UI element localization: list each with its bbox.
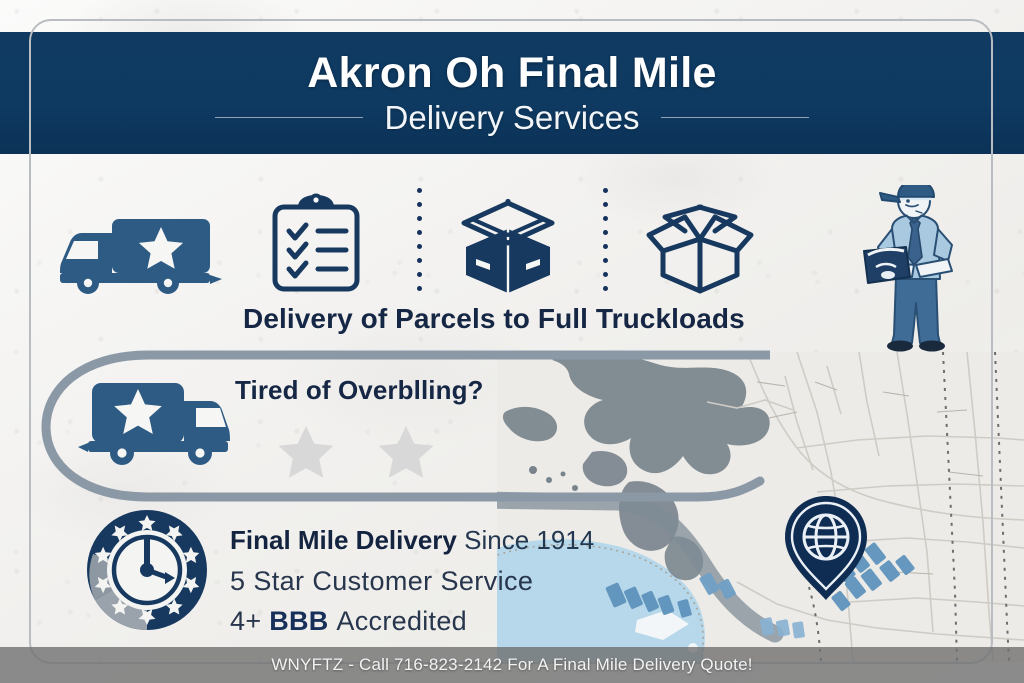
closed-box-icon xyxy=(458,199,558,300)
header-banner: Akron Oh Final Mile Delivery Services xyxy=(0,32,1024,154)
headline-tired: Tired of Overblling? xyxy=(235,375,484,406)
stat-bold-final-mile: Final Mile Delivery xyxy=(230,525,457,555)
rule-right xyxy=(661,117,809,118)
gray-star-rating xyxy=(278,425,434,479)
page-title: Akron Oh Final Mile xyxy=(307,52,716,95)
vertical-dotted-separator xyxy=(415,188,423,291)
headline-parcels: Delivery of Parcels to Full Truckloads xyxy=(243,303,745,335)
rule-left xyxy=(215,117,363,118)
subtitle-row: Delivery Services xyxy=(82,101,942,134)
stat-bbb-bold: BBB xyxy=(269,606,328,636)
truck-with-star-right-icon xyxy=(78,375,230,472)
footer-contact-text: WNYFTZ - Call 716-823-2142 For A Final M… xyxy=(271,655,752,675)
stats-block: Final Mile Delivery Since 1914 5 Star Cu… xyxy=(230,527,594,635)
stat-bbb-prefix: 4+ xyxy=(230,606,261,636)
open-box-icon xyxy=(645,199,755,300)
vertical-dotted-separator xyxy=(601,188,609,291)
gray-star-icon xyxy=(378,425,434,479)
stat-line-since: Final Mile Delivery Since 1914 xyxy=(230,527,594,553)
stat-line-bbb: 4+ BBB Accredited xyxy=(230,608,594,635)
clipboard-checklist-icon xyxy=(268,193,364,300)
page-subtitle: Delivery Services xyxy=(385,101,640,134)
gray-star-icon xyxy=(278,425,334,479)
stat-since-1914: Since 1914 xyxy=(464,525,594,555)
clock-seal-badge-icon xyxy=(85,508,209,637)
stat-line-customer-service: 5 Star Customer Service xyxy=(230,568,594,595)
stat-bbb-suffix: Accredited xyxy=(336,606,467,636)
infographic-canvas: Akron Oh Final Mile Delivery Services xyxy=(0,0,1024,683)
map-pin-globe-icon xyxy=(780,492,872,609)
delivery-person-illustration xyxy=(856,185,966,360)
footer-bar: WNYFTZ - Call 716-823-2142 For A Final M… xyxy=(0,647,1024,683)
truck-with-star-icon xyxy=(58,215,224,300)
